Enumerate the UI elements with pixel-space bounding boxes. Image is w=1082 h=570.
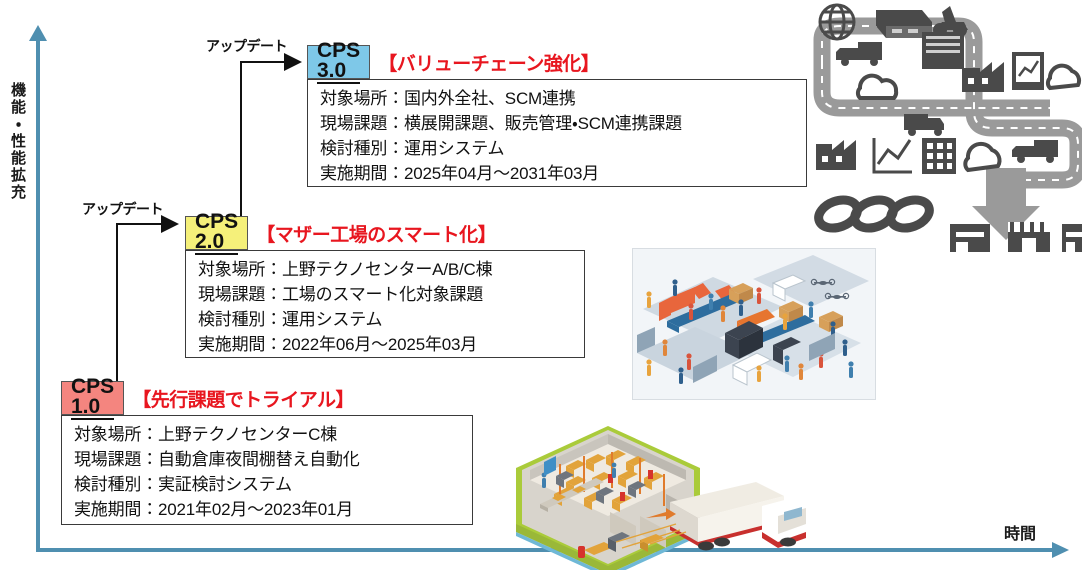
stage-chip-cps-2-0[interactable]: CPS 2.0 — [185, 216, 248, 250]
cps-roadmap-diagram: 機能・性能拡充 時間 アップデート アップデート CPS 3.0 【バリューチェ… — [0, 0, 1082, 570]
stage-header-cps-1-0: CPS 1.0 【先行課題でトライアル】 — [61, 381, 354, 415]
factory-icon — [816, 140, 856, 170]
smart-factory-illustration — [632, 248, 876, 400]
chain-link-icon — [815, 195, 933, 233]
detail-row: 検討種別：運用システム — [320, 136, 796, 161]
update-label-to-cps-3: アップデート — [206, 36, 287, 56]
truck-icon — [1012, 140, 1058, 163]
detail-box-cps-2-0: 対象場所：上野テクノセンターA/B/C棟 現場課題：工場のスマート化対象課題 検… — [185, 250, 585, 358]
detail-row: 実施期間：2025年04月〜2031年03月 — [320, 161, 796, 186]
stage-header-cps-2-0: CPS 2.0 【マザー工場のスマート化】 — [185, 216, 496, 250]
stage-chip-label-cps-3-0: CPS 3.0 — [317, 41, 360, 84]
detail-row: 対象場所：上野テクノセンターC棟 — [74, 422, 462, 447]
update-label-to-cps-2: アップデート — [82, 199, 163, 219]
vertical-axis-line — [36, 38, 40, 550]
horizontal-axis-arrowhead — [1052, 542, 1069, 558]
store-icon — [1062, 224, 1082, 252]
detail-row: 検討種別：運用システム — [198, 307, 574, 332]
stage-chip-label-cps-2-0: CPS 2.0 — [195, 212, 238, 255]
stage-tagline-cps-2-0: 【マザー工場のスマート化】 — [256, 220, 496, 247]
horizontal-axis-label: 時間 — [1004, 520, 1036, 544]
line-chart-icon — [874, 138, 912, 172]
truck-icon — [904, 114, 944, 136]
detail-box-cps-3-0: 対象場所：国内外全社、SCM連携 現場課題：横展開課題、販売管理・SCM連携課題… — [307, 79, 807, 187]
pallet-icon — [922, 32, 964, 69]
cloud-icon — [965, 144, 999, 170]
store-icon — [950, 224, 990, 252]
detail-row: 現場課題：自動倉庫夜間棚替え自動化 — [74, 447, 462, 472]
stage-tagline-cps-3-0: 【バリューチェーン強化】 — [378, 49, 599, 76]
chart-document-icon — [1012, 52, 1044, 90]
detail-row: 実施期間：2022年06月〜2025年03月 — [198, 332, 574, 357]
detail-row: 現場課題：工場のスマート化対象課題 — [198, 282, 574, 307]
vertical-axis-arrowhead — [29, 25, 47, 41]
cloud-icon — [858, 76, 896, 98]
stage-header-cps-3-0: CPS 3.0 【バリューチェーン強化】 — [307, 45, 599, 79]
detail-row: 現場課題：横展開課題、販売管理・SCM連携課題 — [320, 111, 796, 136]
warehouse-illustration — [500, 420, 816, 570]
supply-chain-illustration — [800, 0, 1082, 258]
vertical-axis-label: 機能・性能拡充 — [4, 82, 30, 201]
stage-tagline-cps-1-0: 【先行課題でトライアル】 — [132, 385, 354, 412]
stage-chip-cps-3-0[interactable]: CPS 3.0 — [307, 45, 370, 79]
stage-chip-label-cps-1-0: CPS 1.0 — [71, 377, 114, 420]
detail-row: 実施期間：2021年02月〜2023年01月 — [74, 497, 462, 522]
detail-row: 対象場所：国内外全社、SCM連携 — [320, 86, 796, 111]
truck-icon — [836, 42, 882, 66]
cloud-icon — [1048, 66, 1079, 88]
detail-box-cps-1-0: 対象場所：上野テクノセンターC棟 現場課題：自動倉庫夜間棚替え自動化 検討種別：… — [61, 415, 473, 525]
store-awning-icon — [1008, 222, 1050, 252]
detail-row: 検討種別：実証検討システム — [74, 472, 462, 497]
office-building-icon — [922, 138, 956, 174]
stage-chip-cps-1-0[interactable]: CPS 1.0 — [61, 381, 124, 415]
detail-row: 対象場所：上野テクノセンターA/B/C棟 — [198, 257, 574, 282]
